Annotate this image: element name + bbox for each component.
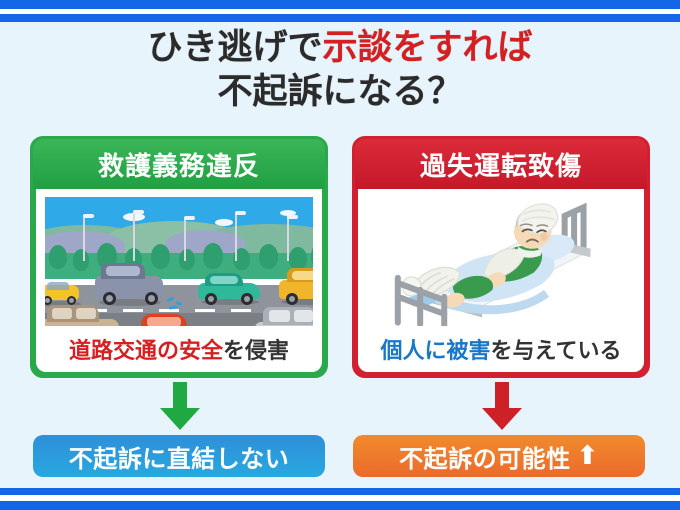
top-accent-bar-outer xyxy=(0,0,680,9)
card-right-body: 個人に被害を与えている xyxy=(358,189,644,372)
card-rescue-duty-violation: 救護義務違反 xyxy=(30,136,328,378)
injured-patient-illustration xyxy=(367,197,635,326)
bottom-accent-bar-inner xyxy=(0,488,680,495)
arrow-up-icon: ⬆ xyxy=(577,443,599,469)
highway-traffic-illustration xyxy=(45,197,313,326)
card-left-header: 救護義務違反 xyxy=(33,139,325,189)
result-pill-right-label: 不起訴の可能性 xyxy=(399,439,571,474)
arrow-down-red-icon xyxy=(482,382,522,430)
title-line-1-highlight: 示談をすれば xyxy=(323,28,533,68)
arrow-down-green xyxy=(160,382,200,430)
card-left-caption-plain: を侵害 xyxy=(223,333,289,365)
card-left-caption: 道路交通の安全を侵害 xyxy=(36,326,322,372)
result-pill-not-directly-dismissed: 不起訴に直結しない xyxy=(33,435,325,477)
hospital-bed-svg xyxy=(367,197,635,326)
title-line-2: 不起訴になる？ xyxy=(0,70,680,114)
bottom-accent-bar-outer xyxy=(0,501,680,510)
page-title: ひき逃げで示談をすれば 不起訴になる？ xyxy=(0,26,680,115)
arrow-down-green-icon xyxy=(160,382,200,430)
card-right-caption-plain: を与えている xyxy=(491,333,622,365)
title-line-1-plain: ひき逃げで xyxy=(147,28,322,68)
card-negligent-driving-injury: 過失運転致傷 xyxy=(352,136,650,378)
card-right-header: 過失運転致傷 xyxy=(355,139,647,189)
card-left-body: 道路交通の安全を侵害 xyxy=(36,189,322,372)
result-pill-left-label: 不起訴に直結しない xyxy=(69,439,290,474)
arrow-down-red xyxy=(482,382,522,430)
result-pill-possible-dismissal: 不起訴の可能性 ⬆ xyxy=(353,435,645,477)
infographic-canvas: ひき逃げで示談をすれば 不起訴になる？ 救護義務違反 xyxy=(0,0,680,510)
card-right-caption-highlight: 個人に被害 xyxy=(381,333,491,365)
top-accent-bar-inner xyxy=(0,14,680,22)
card-right-caption: 個人に被害を与えている xyxy=(358,326,644,372)
title-line-1: ひき逃げで示談をすれば xyxy=(0,26,680,70)
card-left-caption-highlight: 道路交通の安全 xyxy=(69,333,223,365)
